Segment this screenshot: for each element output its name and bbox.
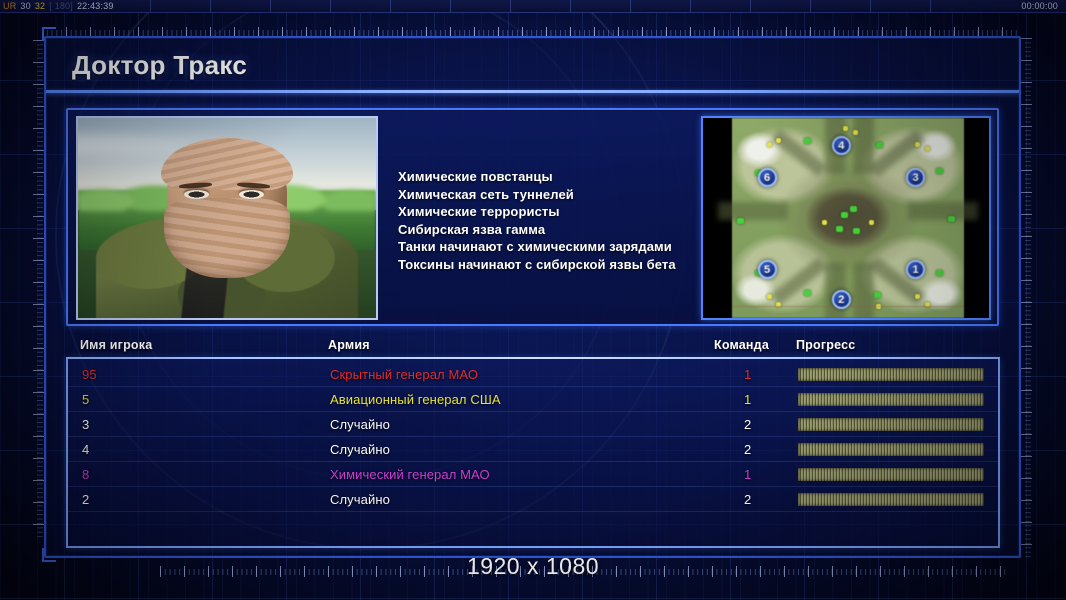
column-header-player-name: Имя игрока	[80, 338, 152, 352]
cell-progress	[798, 368, 984, 381]
column-header-team: Команда	[714, 338, 769, 352]
portrait-image	[78, 118, 376, 318]
status-value-1: 30	[19, 1, 31, 11]
minimap-start-position-6[interactable]: 6	[758, 168, 777, 187]
cell-progress	[798, 393, 984, 406]
minimap-start-position-3[interactable]: 3	[906, 168, 925, 187]
general-description: Химические повстанцы Химическая сеть тун…	[382, 116, 701, 318]
status-ur-label: UR	[2, 1, 17, 11]
table-row[interactable]: 95 Скрытный генерал МАО 1	[68, 362, 998, 387]
player-table-header: Имя игрока Армия Команда Прогресс	[66, 338, 999, 358]
cell-team[interactable]: 2	[744, 417, 751, 432]
description-line-4: Сибирская язва гамма	[398, 221, 701, 239]
status-bar-left: UR 30 32 [ 180] 22:43:39	[0, 1, 115, 11]
progress-bar	[798, 443, 984, 456]
cell-player-name: 3	[82, 417, 89, 432]
minimap-start-position-5[interactable]: 5	[758, 260, 777, 279]
status-bracket: [ 180]	[48, 1, 74, 11]
table-row[interactable]: 5 Авиационный генерал США 1	[68, 387, 998, 412]
minimap-start-position-1[interactable]: 1	[906, 260, 925, 279]
cell-army[interactable]: Скрытный генерал МАО	[330, 367, 478, 382]
minimap-start-position-2[interactable]: 2	[832, 290, 851, 309]
portrait-eye-right	[239, 190, 264, 199]
cell-progress	[798, 493, 984, 506]
title-bar: Доктор Тракс	[44, 38, 1019, 93]
general-info-panel: Химические повстанцы Химическая сеть тун…	[66, 108, 999, 326]
cell-player-name: 8	[82, 467, 89, 482]
progress-bar	[798, 468, 984, 481]
cell-army[interactable]: Авиационный генерал США	[330, 392, 501, 407]
progress-bar	[798, 493, 984, 506]
table-header-divider	[66, 357, 1000, 359]
cell-progress	[798, 468, 984, 481]
status-bar-ticks	[150, 0, 974, 12]
progress-bar	[798, 368, 984, 381]
ruler-right	[1021, 38, 1032, 558]
status-bar: UR 30 32 [ 180] 22:43:39 00:00:00	[0, 0, 1066, 13]
resolution-label: 1920 x 1080	[0, 553, 1066, 580]
table-row[interactable]: 2 Случайно 2	[68, 487, 998, 512]
cell-progress	[798, 443, 984, 456]
cell-army[interactable]: Случайно	[330, 492, 390, 507]
description-line-5: Танки начинают с химическими зарядами	[398, 238, 701, 256]
game-lobby-screen: UR 30 32 [ 180] 22:43:39 00:00:00 Доктор…	[0, 0, 1066, 600]
cell-team[interactable]: 2	[744, 442, 751, 457]
cell-player-name: 5	[82, 392, 89, 407]
cell-army[interactable]: Случайно	[330, 442, 390, 457]
status-bar-right-clock: 00:00:00	[1021, 1, 1066, 11]
description-line-6: Токсины начинают с сибирской язвы бета	[398, 256, 701, 274]
cell-army[interactable]: Случайно	[330, 417, 390, 432]
status-clock: 22:43:39	[76, 1, 115, 11]
progress-bar	[798, 393, 984, 406]
cell-player-name: 2	[82, 492, 89, 507]
table-row[interactable]: 8 Химический генерал МАО 1	[68, 462, 998, 487]
general-portrait	[76, 116, 378, 320]
table-row[interactable]: 4 Случайно 2	[68, 437, 998, 462]
table-row[interactable]: 3 Случайно 2	[68, 412, 998, 437]
minimap-start-position-4[interactable]: 4	[832, 136, 851, 155]
page-title: Доктор Тракс	[72, 50, 247, 81]
minimap-terrain: 4 6 3 5 1 2	[732, 118, 964, 318]
progress-bar	[798, 418, 984, 431]
description-line-2: Химическая сеть туннелей	[398, 186, 701, 204]
minimap-preview[interactable]: 4 6 3 5 1 2	[701, 116, 991, 320]
column-header-army: Армия	[328, 338, 370, 352]
title-divider	[46, 90, 1019, 93]
cell-team[interactable]: 1	[744, 467, 751, 482]
column-header-progress: Прогресс	[796, 338, 855, 352]
cell-player-name: 4	[82, 442, 89, 457]
ruler-left	[33, 40, 44, 540]
cell-team[interactable]: 1	[744, 392, 751, 407]
status-value-2: 32	[34, 1, 46, 11]
portrait-eye-left	[184, 190, 209, 199]
cell-army[interactable]: Химический генерал МАО	[330, 467, 490, 482]
cell-player-name: 95	[82, 367, 97, 382]
player-table: 95 Скрытный генерал МАО 1 5 Авиационный …	[66, 358, 1000, 548]
description-line-3: Химические террористы	[398, 203, 701, 221]
description-line-1: Химические повстанцы	[398, 168, 701, 186]
cell-team[interactable]: 1	[744, 367, 751, 382]
cell-team[interactable]: 2	[744, 492, 751, 507]
cell-progress	[798, 418, 984, 431]
